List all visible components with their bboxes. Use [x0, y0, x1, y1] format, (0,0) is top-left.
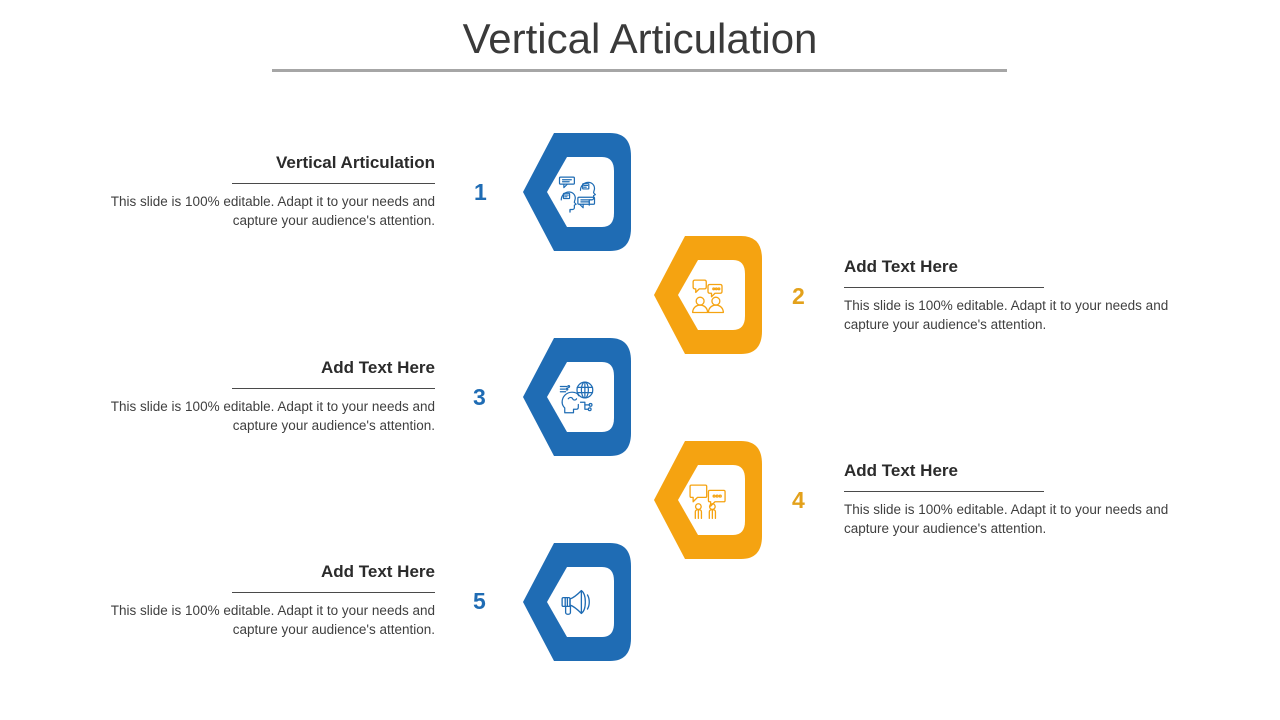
step-4-text-block: Add Text Here This slide is 100% editabl…: [844, 460, 1199, 538]
step-5-hexagon[interactable]: [518, 541, 636, 663]
step-5-text-block: Add Text Here This slide is 100% editabl…: [80, 561, 435, 639]
step-2-body: This slide is 100% editable. Adapt it to…: [844, 297, 1199, 334]
step-2-number: 2: [792, 285, 805, 308]
two-people-chat-bubbles-icon: [679, 264, 737, 326]
head-globe-network-icon: [548, 366, 606, 428]
step-3-number: 3: [473, 386, 486, 409]
step-4-hexagon[interactable]: [649, 439, 767, 561]
step-1-number: 1: [474, 181, 487, 204]
step-5-heading: Add Text Here: [80, 561, 435, 583]
step-2-hexagon[interactable]: [649, 234, 767, 356]
step-4-heading-divider: [844, 491, 1044, 492]
step-1-text-block: Vertical Articulation This slide is 100%…: [80, 152, 435, 230]
step-4-number: 4: [792, 489, 805, 512]
step-1-hexagon[interactable]: [518, 131, 636, 253]
step-2-text-block: Add Text Here This slide is 100% editabl…: [844, 256, 1199, 334]
step-5-number: 5: [473, 590, 486, 613]
megaphone-icon: [548, 571, 606, 633]
step-4-body: This slide is 100% editable. Adapt it to…: [844, 501, 1199, 538]
two-heads-speech-bubbles-icon: [548, 161, 606, 223]
step-3-heading: Add Text Here: [80, 357, 435, 379]
step-3-text-block: Add Text Here This slide is 100% editabl…: [80, 357, 435, 435]
step-2-heading-divider: [844, 287, 1044, 288]
step-1-heading: Vertical Articulation: [80, 152, 435, 174]
step-5-heading-divider: [232, 592, 435, 593]
step-2-heading: Add Text Here: [844, 256, 1199, 278]
step-3-heading-divider: [232, 388, 435, 389]
step-3-hexagon[interactable]: [518, 336, 636, 458]
step-1-body: This slide is 100% editable. Adapt it to…: [80, 193, 435, 230]
step-3-body: This slide is 100% editable. Adapt it to…: [80, 398, 435, 435]
step-1-heading-divider: [232, 183, 435, 184]
step-5-body: This slide is 100% editable. Adapt it to…: [80, 602, 435, 639]
step-4-heading: Add Text Here: [844, 460, 1199, 482]
two-presenters-speech-bubbles-icon: [679, 469, 737, 531]
vertical-articulation-diagram: Vertical Articulation This slide is 100%…: [0, 0, 1280, 720]
